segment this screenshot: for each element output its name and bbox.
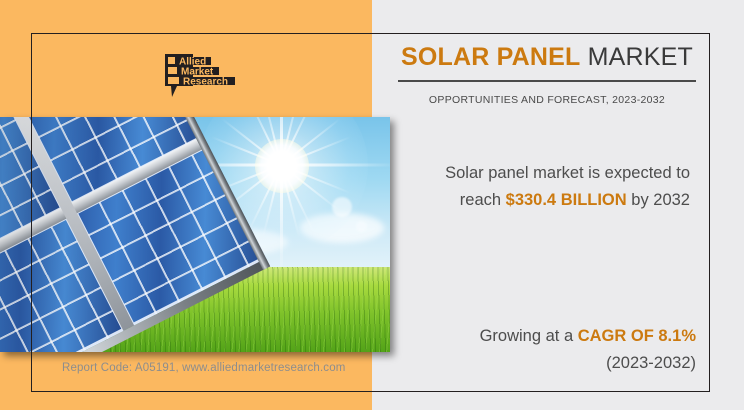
statement-value-accent: $330.4 BILLION bbox=[506, 191, 627, 209]
cagr-line-1-prefix: Growing at a bbox=[480, 327, 578, 345]
title-block: SOLAR PANEL MARKET OPPORTUNITIES AND FOR… bbox=[398, 34, 696, 106]
hero-photo bbox=[0, 117, 390, 352]
cagr-period: (2023-2032) bbox=[606, 354, 696, 372]
report-banner: Allied Market Research bbox=[0, 0, 744, 410]
content-panel: SOLAR PANEL MARKET OPPORTUNITIES AND FOR… bbox=[390, 34, 709, 391]
lens-flare bbox=[356, 221, 367, 232]
sun-core bbox=[255, 139, 309, 193]
page-subtitle: OPPORTUNITIES AND FORECAST, 2023-2032 bbox=[398, 82, 696, 106]
allied-market-research-logo: Allied Market Research bbox=[163, 52, 241, 100]
page-title: SOLAR PANEL MARKET bbox=[398, 43, 696, 72]
statement-line-1: Solar panel market is expected to bbox=[445, 164, 690, 182]
statement-line-2-suffix: by 2032 bbox=[627, 191, 690, 209]
page-title-accent: SOLAR PANEL bbox=[401, 43, 581, 71]
market-value-statement: Solar panel market is expected toreach $… bbox=[398, 106, 696, 214]
lens-flare bbox=[332, 197, 352, 217]
cagr-value-accent: CAGR OF 8.1% bbox=[578, 327, 696, 345]
logo-text-line3: Research bbox=[183, 77, 228, 88]
cagr-statement: Growing at a CAGR OF 8.1%(2023-2032) bbox=[480, 323, 696, 377]
report-code-text: Report Code: A05191, www.alliedmarketres… bbox=[62, 362, 346, 374]
statement-line-2-prefix: reach bbox=[460, 191, 506, 209]
page-title-rest: MARKET bbox=[581, 43, 694, 71]
